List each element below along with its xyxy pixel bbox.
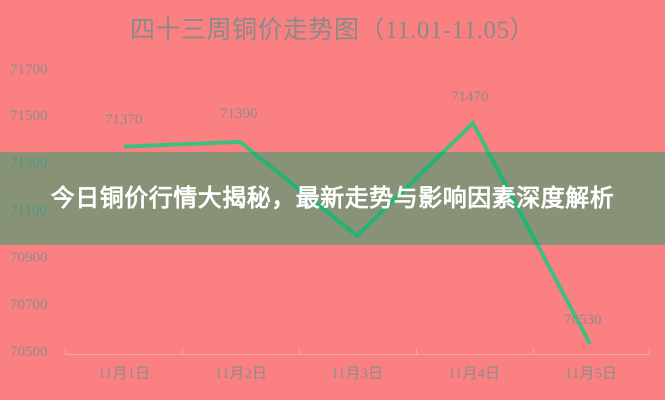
x-axis-tick-11-01: 11月1日 <box>74 362 174 383</box>
data-label-11-02: 71390 <box>220 106 258 123</box>
chart-canvas: 四十三周铜价走势图（11.01-11.05） 71700 71500 71300… <box>0 0 665 400</box>
x-axis-tick-11-03: 11月3日 <box>307 362 407 383</box>
data-label-11-01: 71370 <box>105 112 143 129</box>
plot-area <box>0 0 665 400</box>
x-axis-tick-11-05: 11月5日 <box>541 362 641 383</box>
x-axis-tick-11-02: 11月2日 <box>191 362 291 383</box>
copper-price-chart-page: 四十三周铜价走势图（11.01-11.05） 71700 71500 71300… <box>0 0 665 400</box>
price-trend-line <box>124 123 590 344</box>
x-axis-tick-11-04: 11月4日 <box>424 362 524 383</box>
data-label-11-05: 70530 <box>564 312 602 329</box>
data-label-11-04: 71470 <box>451 89 489 106</box>
